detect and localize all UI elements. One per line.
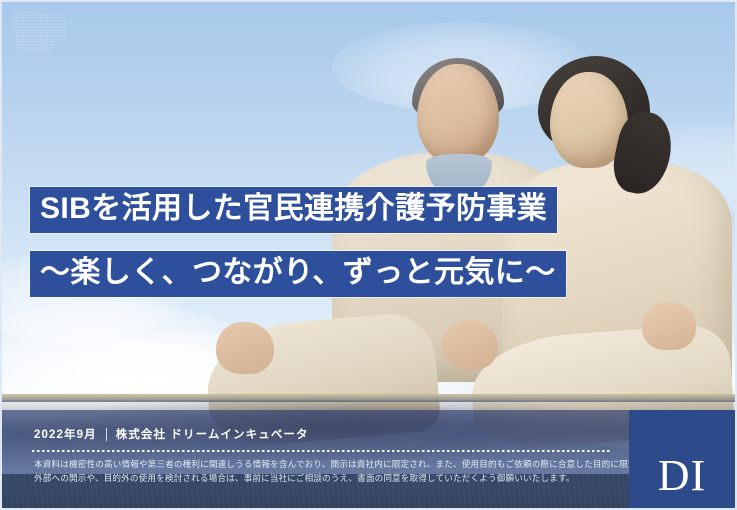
company-name: 株式会社 ドリームインキュベータ	[116, 426, 309, 442]
footer-divider	[32, 450, 610, 452]
title-line-2: 〜楽しく、つながり、ずっと元気に〜	[30, 251, 566, 297]
publication-date: 2022年9月	[34, 426, 97, 442]
title-line-1: SIBを活用した官民連携介護予防事業	[30, 187, 557, 233]
disclaimer-text: 本資料は機密性の高い情報や第三者の権利に関連しうる情報を含んでおり、開示は貴社内…	[34, 458, 620, 486]
disclaimer-line-2: 外部への開示や、目的外の使用を検討される場合は、事前に当社にご相談のうえ、書面の…	[34, 472, 620, 486]
meta-separator	[106, 428, 107, 441]
disclaimer-line-1: 本資料は機密性の高い情報や第三者の権利に関連しうる情報を含んでおり、開示は貴社内…	[34, 458, 620, 472]
title-block: SIBを活用した官民連携介護予防事業 〜楽しく、つながり、ずっと元気に〜	[30, 187, 735, 297]
watermark-icon	[10, 8, 74, 62]
di-logo-text: DI	[658, 454, 706, 510]
presentation-cover-slide: SIBを活用した官民連携介護予防事業 〜楽しく、つながり、ずっと元気に〜 202…	[0, 0, 737, 510]
footer-meta: 2022年9月 株式会社 ドリームインキュベータ	[34, 426, 309, 442]
di-logo: DI	[629, 410, 735, 510]
